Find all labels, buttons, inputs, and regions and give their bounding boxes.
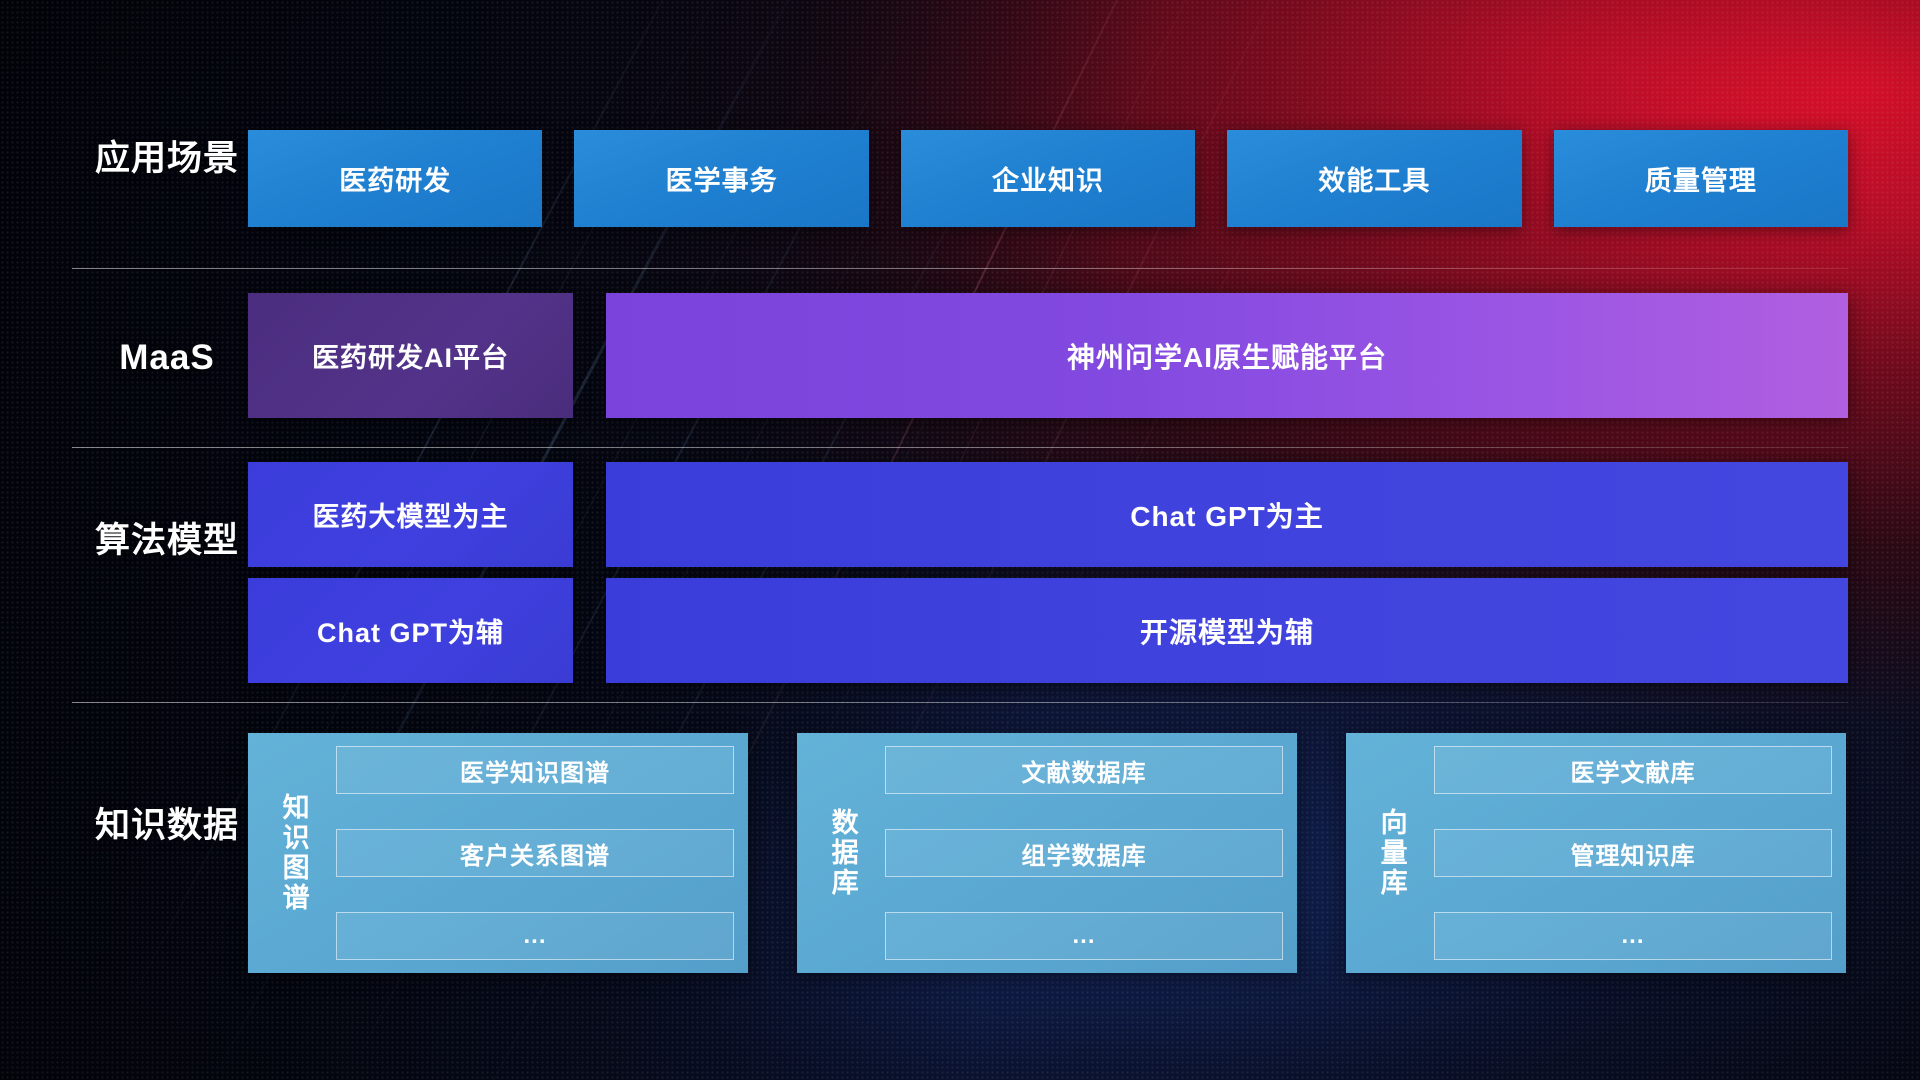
knowledge-item-more[interactable]: ...: [1434, 912, 1832, 960]
tier-label-maas: MaaS: [92, 337, 242, 378]
diagram-canvas: 应用场景 医药研发 医学事务 企业知识 效能工具 质量管理 MaaS 医药研发A…: [0, 0, 1920, 1080]
divider-3: [72, 702, 1848, 703]
algo-box-chatgpt-secondary[interactable]: Chat GPT为辅: [248, 578, 573, 683]
app-box-quality-management[interactable]: 质量管理: [1554, 130, 1848, 227]
knowledge-group-title: 数据库: [811, 746, 873, 960]
app-box-medicine-rd[interactable]: 医药研发: [248, 130, 542, 227]
tier-label-application-scenarios: 应用场景: [92, 138, 242, 179]
knowledge-item-list: 医学文献库 管理知识库 ...: [1434, 746, 1832, 960]
algo-box-pharma-llm-primary[interactable]: 医药大模型为主: [248, 462, 573, 567]
knowledge-item-customer-graph[interactable]: 客户关系图谱: [336, 829, 734, 877]
divider-1: [72, 268, 1848, 269]
app-box-medical-affairs[interactable]: 医学事务: [574, 130, 868, 227]
knowledge-group-title: 知识图谱: [262, 746, 324, 960]
knowledge-group-vector-store[interactable]: 向量库 医学文献库 管理知识库 ...: [1346, 733, 1846, 973]
knowledge-item-more[interactable]: ...: [336, 912, 734, 960]
tier-label-algorithm-models: 算法模型: [92, 520, 242, 561]
knowledge-item-literature-db[interactable]: 文献数据库: [885, 746, 1283, 794]
knowledge-item-more[interactable]: ...: [885, 912, 1283, 960]
tier-label-knowledge-data: 知识数据: [92, 805, 242, 846]
tier-row-algorithm-primary: 医药大模型为主 Chat GPT为主: [248, 462, 1848, 567]
maas-box-shenzhou-platform[interactable]: 神州问学AI原生赋能平台: [606, 293, 1848, 418]
knowledge-item-medical-graph[interactable]: 医学知识图谱: [336, 746, 734, 794]
knowledge-group-title: 向量库: [1360, 746, 1422, 960]
tier-row-algorithm-secondary: Chat GPT为辅 开源模型为辅: [248, 578, 1848, 683]
algo-box-chatgpt-primary[interactable]: Chat GPT为主: [606, 462, 1848, 567]
knowledge-group-knowledge-graph[interactable]: 知识图谱 医学知识图谱 客户关系图谱 ...: [248, 733, 748, 973]
tier-row-application-scenarios: 医药研发 医学事务 企业知识 效能工具 质量管理: [248, 130, 1848, 227]
maas-box-pharma-ai-platform[interactable]: 医药研发AI平台: [248, 293, 573, 418]
tier-row-maas: 医药研发AI平台 神州问学AI原生赋能平台: [248, 293, 1848, 418]
app-box-enterprise-knowledge[interactable]: 企业知识: [901, 130, 1195, 227]
knowledge-item-list: 医学知识图谱 客户关系图谱 ...: [336, 746, 734, 960]
knowledge-item-management-kb[interactable]: 管理知识库: [1434, 829, 1832, 877]
algo-box-opensource-secondary[interactable]: 开源模型为辅: [606, 578, 1848, 683]
divider-2: [72, 447, 1848, 448]
knowledge-item-omics-db[interactable]: 组学数据库: [885, 829, 1283, 877]
knowledge-item-list: 文献数据库 组学数据库 ...: [885, 746, 1283, 960]
knowledge-group-database[interactable]: 数据库 文献数据库 组学数据库 ...: [797, 733, 1297, 973]
app-box-efficiency-tools[interactable]: 效能工具: [1227, 130, 1521, 227]
knowledge-item-medical-literature[interactable]: 医学文献库: [1434, 746, 1832, 794]
